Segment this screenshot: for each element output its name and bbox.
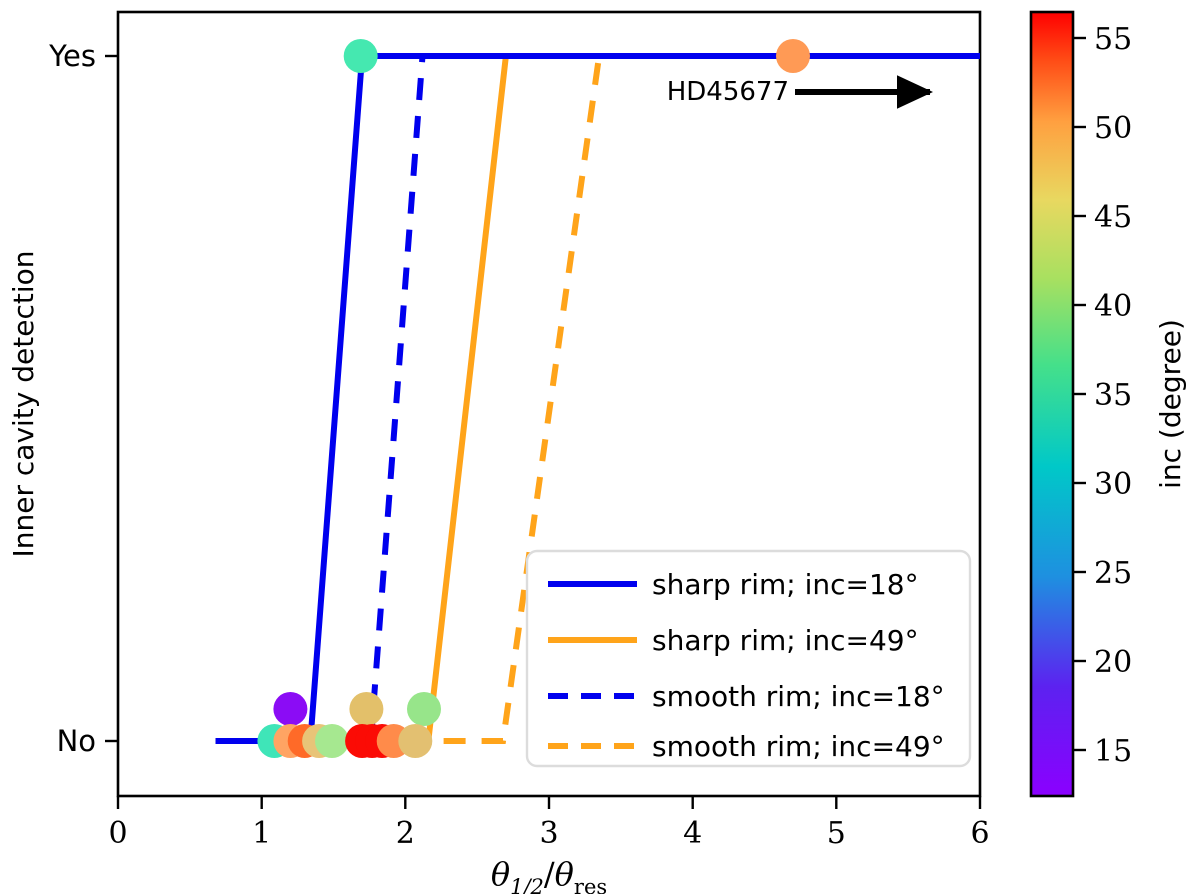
colorbar-gradient (1031, 12, 1073, 796)
x-ticklabel: 5 (827, 816, 846, 851)
annotation-label: HD45677 (667, 77, 789, 107)
scatter-step-chart: 0 1 2 3 4 5 6 θ1/2/θres Yes No Inner cav… (0, 0, 1200, 894)
x-ticklabel: 2 (396, 816, 415, 851)
x-ticklabel: 0 (108, 816, 127, 851)
scatter-point (273, 692, 307, 726)
colorbar-ticklabels: 55 50 45 40 35 30 25 20 15 (1094, 22, 1132, 769)
scatter-point (315, 724, 349, 758)
legend-label: sharp rim; inc=18° (652, 568, 919, 601)
legend-label: smooth rim; inc=49° (652, 730, 945, 763)
x-title-slash: / (544, 855, 555, 893)
y-axis-title: Inner cavity detection (7, 251, 40, 558)
y-ticklabel-no: No (57, 724, 96, 758)
legend: sharp rim; inc=18° sharp rim; inc=49° sm… (527, 551, 970, 766)
colorbar-ticklabel: 55 (1094, 22, 1132, 57)
colorbar-ticklabel: 45 (1094, 200, 1132, 235)
scatter-point (398, 724, 432, 758)
x-ticklabel: 1 (252, 816, 271, 851)
scatter-point (776, 39, 810, 73)
legend-label: sharp rim; inc=49° (652, 624, 919, 657)
colorbar-ticklabel: 20 (1094, 645, 1132, 680)
colorbar-ticklabel: 40 (1094, 289, 1132, 324)
y-ticklabel-yes: Yes (48, 39, 96, 73)
x-ticklabel: 4 (683, 816, 702, 851)
colorbar-ticklabel: 50 (1094, 111, 1132, 146)
x-ticklabel: 3 (539, 816, 558, 851)
colorbar-ticklabel: 25 (1094, 556, 1132, 591)
scatter-point (407, 692, 441, 726)
scatter-point (344, 39, 378, 73)
legend-label: smooth rim; inc=18° (652, 680, 945, 713)
x-ticklabel: 6 (970, 816, 989, 851)
scatter-point (349, 692, 383, 726)
x-title-theta2: θ (555, 855, 574, 893)
colorbar-ticklabel: 30 (1094, 467, 1132, 502)
colorbar-title: inc (degree) (1154, 319, 1187, 489)
x-title-sub2: res (574, 875, 607, 894)
colorbar-ticklabel: 15 (1094, 734, 1132, 769)
x-title-theta1: θ (491, 855, 510, 893)
x-title-sub1: 1/2 (510, 875, 544, 894)
colorbar-ticklabel: 35 (1094, 378, 1132, 413)
